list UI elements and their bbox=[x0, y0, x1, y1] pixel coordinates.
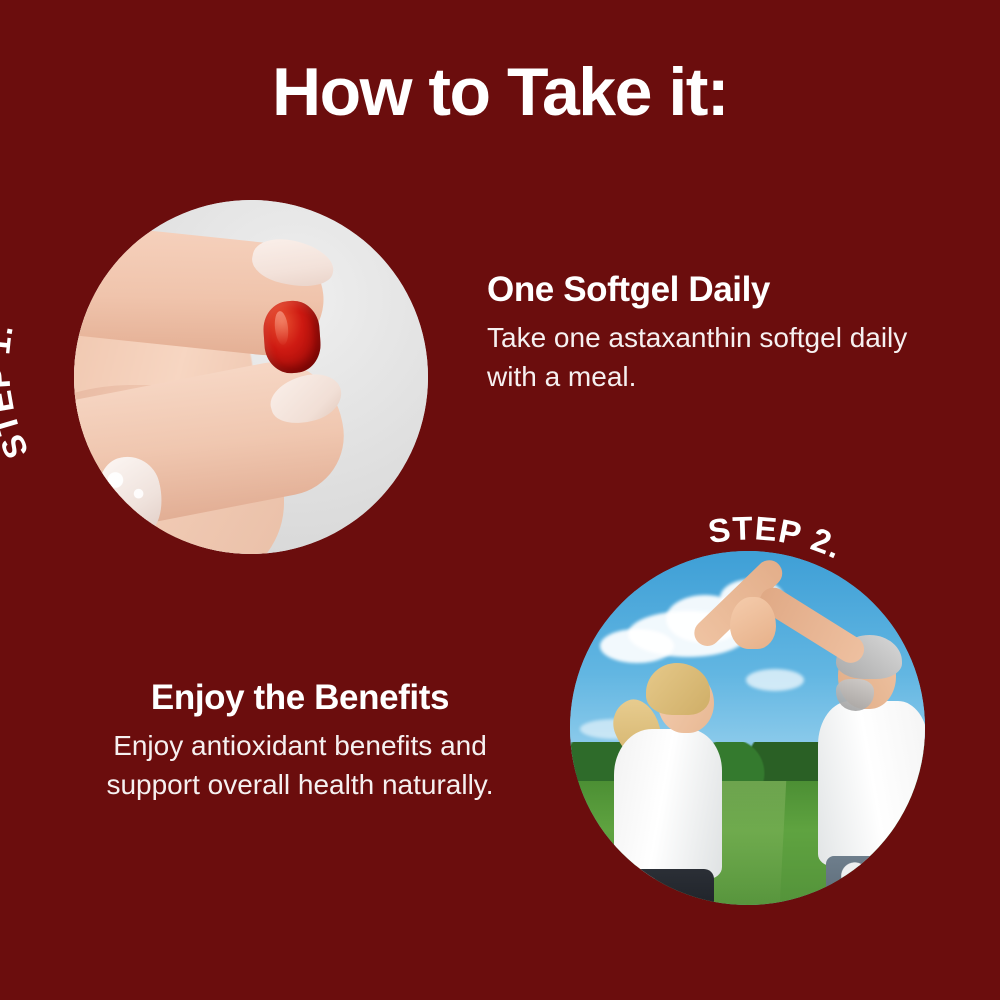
step-1-text-block: One Softgel Daily Take one astaxanthin s… bbox=[487, 270, 927, 397]
step-1-heading: One Softgel Daily bbox=[487, 270, 927, 310]
step-2-curved-label: STEP 2. bbox=[510, 500, 980, 970]
step-2-label-textpath: STEP 2. bbox=[706, 509, 849, 565]
step-2-heading: Enjoy the Benefits bbox=[74, 678, 526, 718]
step-2-body: Enjoy antioxidant benefits and support o… bbox=[74, 727, 526, 804]
step-1-curved-label: STEP 1. bbox=[10, 150, 470, 610]
page-title: How to Take it: bbox=[0, 58, 1000, 126]
step-1-label-textpath: STEP 1. bbox=[0, 321, 35, 464]
step-2-label-text: STEP 2. bbox=[706, 509, 849, 565]
step-1-label-text: STEP 1. bbox=[0, 321, 35, 464]
step-2-text-block: Enjoy the Benefits Enjoy antioxidant ben… bbox=[74, 678, 526, 805]
step-1-body: Take one astaxanthin softgel daily with … bbox=[487, 319, 927, 396]
infographic-canvas: How to Take it: STEP 1. One Softgel Dail… bbox=[0, 0, 1000, 1000]
